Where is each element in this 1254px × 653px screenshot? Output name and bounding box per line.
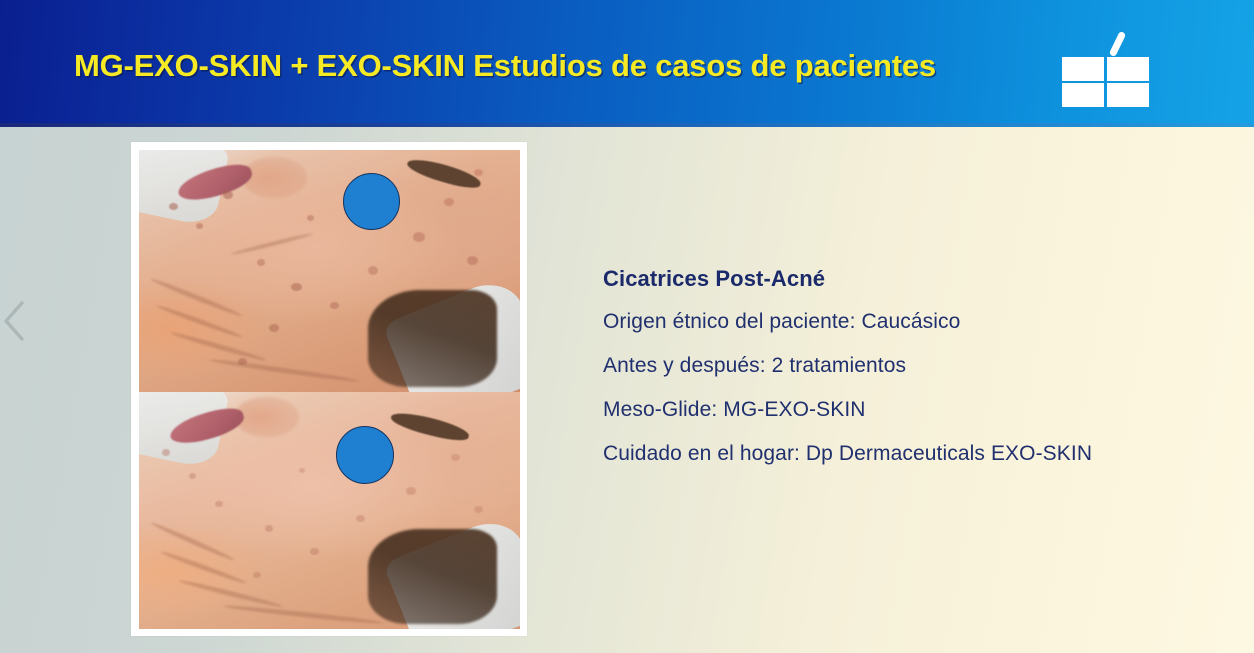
logo-cell-bottom-left-icon [1062, 83, 1104, 107]
chevron-left-icon[interactable] [2, 300, 28, 342]
logo-cell-top-right-icon [1107, 57, 1149, 81]
header-divider [0, 123, 1254, 127]
case-study-heading: Cicatrices Post-Acné [603, 266, 1203, 292]
slide-canvas: MG-EXO-SKIN + EXO-SKIN Estudios de casos… [0, 0, 1254, 653]
case-detail-treatments: Antes y después: 2 tratamientos [603, 354, 1203, 378]
slide-header-bar: MG-EXO-SKIN + EXO-SKIN Estudios de casos… [0, 0, 1254, 123]
slide-title: MG-EXO-SKIN + EXO-SKIN Estudios de casos… [74, 48, 936, 84]
acne-scar-texture [139, 150, 520, 392]
photo-before[interactable] [139, 150, 520, 392]
case-detail-meso-glide: Meso-Glide: MG-EXO-SKIN [603, 398, 1203, 422]
case-study-details: Cicatrices Post-Acné Origen étnico del p… [603, 266, 1203, 466]
privacy-dot-before [343, 173, 400, 230]
photo-after[interactable] [139, 392, 520, 629]
logo-cell-top-left-icon [1062, 57, 1104, 81]
logo-cell-bottom-right-icon [1107, 83, 1149, 107]
acne-scar-texture [139, 392, 520, 629]
logo-slash-icon [1109, 31, 1127, 57]
case-detail-ethnicity: Origen étnico del paciente: Caucásico [603, 310, 1203, 334]
before-after-photo-pair[interactable] [131, 142, 527, 636]
dp-dermaceuticals-logo [1062, 33, 1158, 109]
case-detail-home-care: Cuidado en el hogar: Dp Dermaceuticals E… [603, 442, 1203, 466]
